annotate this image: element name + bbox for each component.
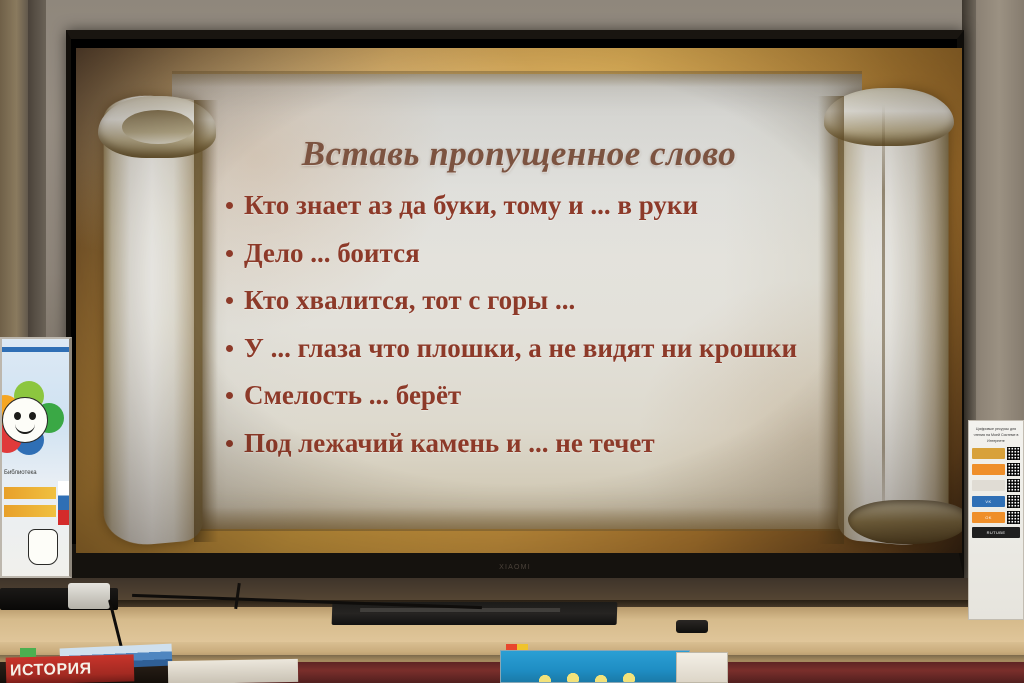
parchment-bottom-edge	[172, 507, 862, 531]
eye-right	[29, 412, 36, 420]
paper-stack	[168, 659, 298, 683]
display-graphic-icon	[529, 667, 659, 683]
display-card-white	[676, 652, 728, 683]
list-item: Под лежачий камень и ... не течет	[224, 426, 824, 461]
qr-code-icon	[1007, 479, 1020, 492]
poster-top-band	[2, 347, 69, 352]
smile-icon	[15, 421, 35, 434]
list-item: Дело ... боится	[224, 236, 824, 271]
flower-character-icon	[0, 381, 62, 459]
poster-banner-1	[4, 487, 56, 499]
flower-hand-icon	[28, 529, 58, 565]
book-history-label: ИСТОРИЯ	[6, 654, 135, 683]
poster-chip	[972, 480, 1005, 491]
poster-chip-vk: VK	[972, 496, 1005, 507]
poster-chip-ok: OK	[972, 512, 1005, 523]
eye-left	[14, 412, 21, 420]
poster-right-row	[972, 463, 1020, 476]
tv-brand-logo: XIAOMI	[499, 564, 531, 571]
keyboard-highlight	[360, 608, 560, 612]
list-item: У ... глаза что плошки, а не видят ни кр…	[224, 331, 824, 366]
qr-code-icon	[1007, 495, 1020, 508]
poster-right-heading: Цифровые ресурсы для чтения на Моей Сист…	[973, 427, 1019, 444]
list-item: Кто хвалится, тот с горы ...	[224, 283, 824, 318]
poster-chip-rutube: RUTUBE	[972, 527, 1020, 538]
tv-bezel: Вставь пропущенное слово Кто знает аз да…	[66, 30, 964, 578]
poster-right-row	[972, 479, 1020, 492]
poster-right-row: VK	[972, 495, 1020, 508]
book-history: ИСТОРИЯ	[6, 654, 135, 683]
slide-title: Вставь пропущенное слово	[76, 134, 962, 174]
qr-code-icon	[1007, 463, 1020, 476]
power-plug	[68, 583, 110, 609]
smiley-face-icon	[2, 397, 48, 443]
poster-digital-resources: Цифровые ресурсы для чтения на Моей Сист…	[968, 420, 1024, 620]
qr-code-icon	[1007, 511, 1020, 524]
television[interactable]: Вставь пропущенное слово Кто знает аз да…	[66, 30, 964, 578]
poster-footer-label: RUTUBE	[972, 527, 1020, 538]
list-item: Кто знает аз да буки, тому и ... в руки	[224, 188, 824, 223]
poster-library: Библиотека	[0, 337, 72, 578]
qr-code-icon	[1007, 447, 1020, 460]
poster-chip-label: OK	[972, 512, 1005, 523]
poster-chip	[972, 464, 1005, 475]
poster-right-row: RUTUBE	[972, 527, 1020, 538]
poster-chip	[972, 448, 1005, 459]
list-item: Смелость ... берёт	[224, 378, 824, 413]
poster-flag-stripe	[58, 481, 72, 525]
poster-chip-label: VK	[972, 496, 1005, 507]
poster-right-row: OK	[972, 511, 1020, 524]
remote-control[interactable]	[676, 620, 708, 633]
presentation-slide[interactable]: Вставь пропущенное слово Кто знает аз да…	[76, 48, 962, 553]
poster-text-line1: Библиотека	[4, 469, 72, 478]
parchment-top-edge	[172, 71, 862, 87]
slide-bullet-list: Кто знает аз да буки, тому и ... в руки …	[224, 188, 824, 473]
scroll-curl-right-foot	[848, 500, 962, 544]
poster-banner-2	[4, 505, 56, 517]
room-scene: Вставь пропущенное слово Кто знает аз да…	[0, 0, 1024, 683]
display-board-blue	[500, 650, 690, 683]
poster-right-row	[972, 447, 1020, 460]
